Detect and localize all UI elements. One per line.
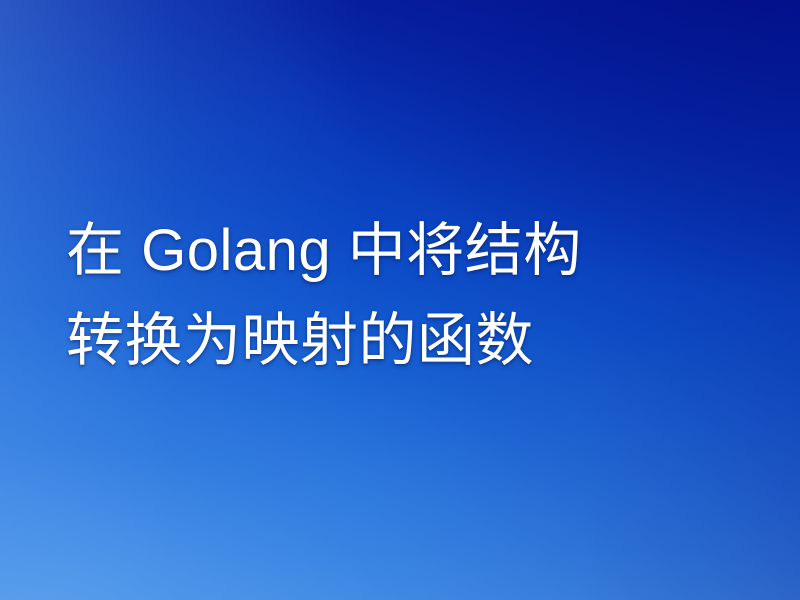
title-line-1: 在 Golang 中将结构 <box>66 206 766 296</box>
title-line-2: 转换为映射的函数 <box>66 296 766 386</box>
page-title: 在 Golang 中将结构 转换为映射的函数 <box>66 206 766 386</box>
title-card: 在 Golang 中将结构 转换为映射的函数 <box>0 0 800 600</box>
